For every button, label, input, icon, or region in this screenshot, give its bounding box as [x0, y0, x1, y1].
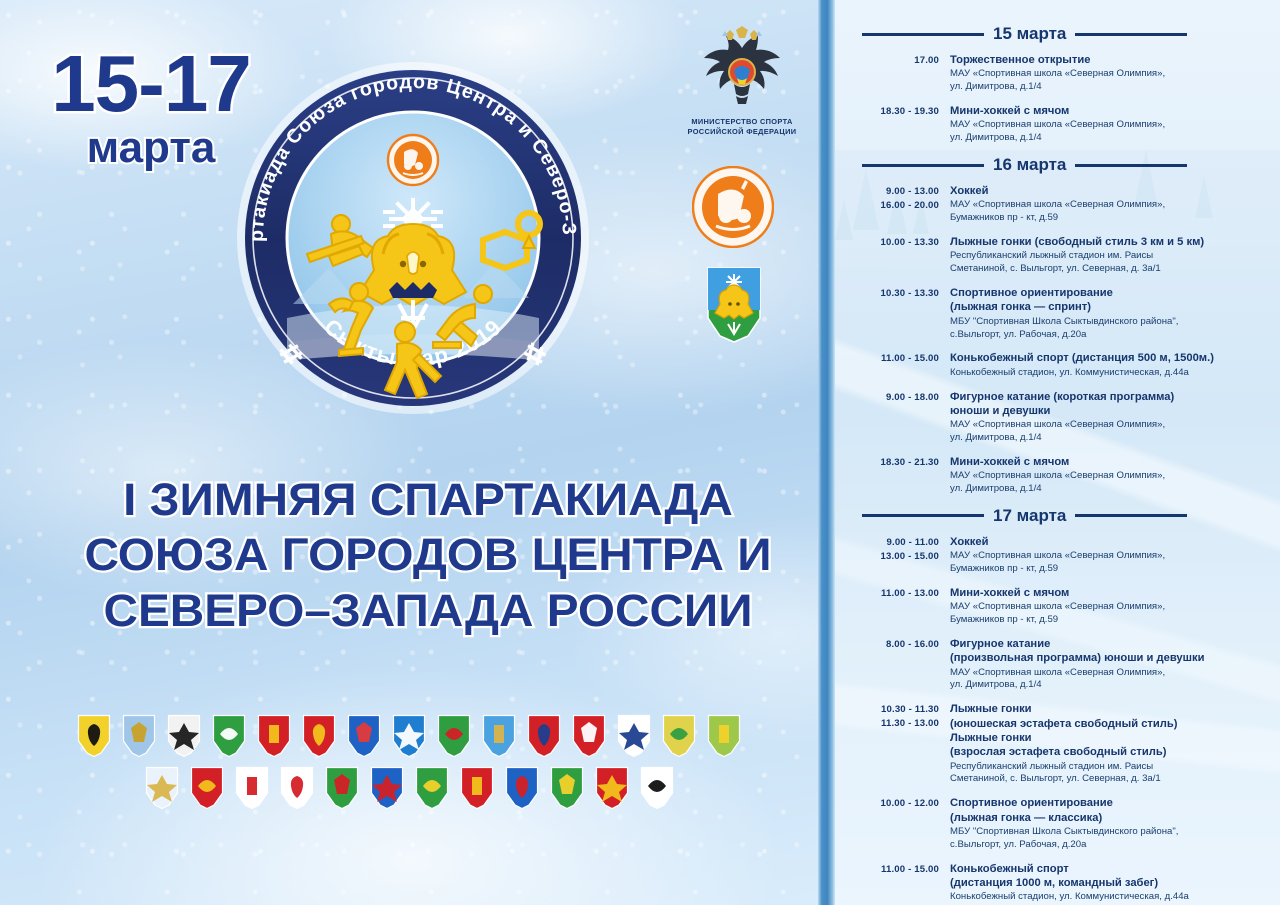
schedule-event: 9.00 - 18.00Фигурное катание (короткая п… [862, 390, 1274, 445]
arms-ukhta [415, 766, 449, 810]
arms-naryan-mar [572, 714, 606, 758]
event-time: 10.30 - 13.30 [862, 287, 939, 301]
event-venue-line: ул. Димитрова, д.1/4 [950, 679, 1274, 692]
event-body: Конькобежный спорт(дистанция 1000 м, ком… [950, 862, 1274, 905]
day-header: 17 марта [862, 506, 1274, 526]
schedule-event: 11.00 - 15.00Конькобежный спорт(дистанци… [862, 862, 1274, 905]
event-time: 9.00 - 18.00 [862, 391, 939, 405]
event-title: Хоккей [950, 184, 1274, 198]
schedule-event: 9.00 - 11.0013.00 - 15.00ХоккейМАУ «Спор… [862, 535, 1274, 576]
arms-rybinsk [527, 714, 561, 758]
schedule-event: 9.00 - 13.0016.00 - 20.00ХоккейМАУ «Спор… [862, 184, 1274, 225]
event-times: 10.30 - 11.3011.30 - 13.00 [862, 702, 950, 786]
ministry-line-1: МИНИСТЕРСТВО СПОРТА [672, 117, 812, 127]
event-venue: Республиканский лыжный стадион им. Раисы… [950, 250, 1274, 276]
event-venue: Республиканский лыжный стадион им. Раисы… [950, 761, 1274, 787]
event-time: 11.00 - 15.00 [862, 352, 939, 366]
event-title: Мини-хоккей с мячом [950, 455, 1274, 469]
ministry-of-sport-logo: МИНИСТЕРСТВО СПОРТА РОССИЙСКОЙ ФЕДЕРАЦИИ [672, 26, 812, 137]
event-venue-line: ул. Димитрова, д.1/4 [950, 132, 1274, 145]
event-venue-line: МАУ «Спортивная школа «Северная Олимпия»… [950, 119, 1274, 132]
schedule-event: 18.30 - 21.30Мини-хоккей с мячомМАУ «Спо… [862, 455, 1274, 496]
event-venue-line: Бумажников пр - кт, д.59 [950, 614, 1274, 627]
event-times: 10.00 - 13.30 [862, 235, 950, 276]
arms-cherepovets-2 [235, 766, 269, 810]
event-title: Конькобежный спорт (дистанция 500 м, 150… [950, 351, 1274, 365]
event-times: 9.00 - 13.0016.00 - 20.00 [862, 184, 950, 225]
event-time: 10.00 - 13.30 [862, 236, 939, 250]
arms-vorkuta [460, 766, 494, 810]
event-time: 10.30 - 11.30 [862, 703, 939, 717]
event-body: Мини-хоккей с мячомМАУ «Спортивная школа… [950, 586, 1274, 627]
date-month: марта [36, 126, 266, 170]
event-title: Лыжные гонки(юношеская эстафета свободны… [950, 702, 1274, 759]
arms-kotlas [617, 714, 651, 758]
event-venue: МБУ "Спортивная Школа Сыктывдинского рай… [950, 316, 1274, 342]
event-venue: МАУ «Спортивная школа «Северная Олимпия»… [950, 601, 1274, 627]
event-body: Спортивное ориентирование(лыжная гонка —… [950, 286, 1274, 341]
tree-icon [835, 200, 853, 240]
event-body: Лыжные гонки(юношеская эстафета свободны… [950, 702, 1274, 786]
rule-left [862, 33, 984, 36]
rule-left [862, 514, 984, 517]
rule-left [862, 164, 984, 167]
event-time: 11.00 - 13.00 [862, 587, 939, 601]
event-body: Спортивное ориентирование(лыжная гонка —… [950, 796, 1274, 851]
double-headed-eagle-icon [682, 26, 802, 110]
schedule-event: 11.00 - 13.00Мини-хоккей с мячомМАУ «Спо… [862, 586, 1274, 627]
title-line-2: СОЮЗА ГОРОДОВ ЦЕНТРА И [25, 527, 831, 582]
event-venue-line: МАУ «Спортивная школа «Северная Олимпия»… [950, 419, 1274, 432]
day-label: 15 марта [993, 24, 1066, 44]
day-header: 15 марта [862, 24, 1274, 44]
day-label: 16 марта [993, 155, 1066, 175]
title-line-1: I ЗИМНЯЯ СПАРТАКИАДА [25, 472, 831, 527]
schedule-event: 10.00 - 12.00Спортивное ориентирование(л… [862, 796, 1274, 851]
event-times: 11.00 - 15.00 [862, 862, 950, 905]
event-time: 16.00 - 20.00 [862, 199, 939, 213]
arms-syktyvkar-region [662, 714, 696, 758]
event-body: Лыжные гонки (свободный стиль 3 км и 5 к… [950, 235, 1274, 276]
event-venue-line: с.Выльгорт, ул. Рабочая, д.20а [950, 839, 1274, 852]
event-schedule: 15 марта17.00Торжественное открытиеМАУ «… [862, 18, 1274, 905]
event-venue-line: Конькобежный стадион, ул. Коммунистическ… [950, 891, 1274, 904]
arms-vologda-region [302, 714, 336, 758]
schedule-event: 11.00 - 15.00Конькобежный спорт (дистанц… [862, 351, 1274, 379]
event-venue-line: Сметаниной, с. Выльгорт, ул. Северная, д… [950, 773, 1274, 786]
arms-extra [707, 714, 741, 758]
arms-murmansk [482, 714, 516, 758]
event-venue-line: МАУ «Спортивная школа «Северная Олимпия»… [950, 667, 1274, 680]
vertical-divider-stripe [818, 0, 835, 905]
event-venue-line: МБУ "Спортивная Школа Сыктывдинского рай… [950, 316, 1274, 329]
event-title: Фигурное катание (короткая программа)юно… [950, 390, 1274, 419]
event-time: 18.30 - 21.30 [862, 456, 939, 470]
rule-right [1075, 33, 1187, 36]
event-venue-line: ул. Димитрова, д.1/4 [950, 81, 1274, 94]
event-venue-line: Сметаниной, с. Выльгорт, ул. Северная, д… [950, 263, 1274, 276]
event-venue-line: МАУ «Спортивная школа «Северная Олимпия»… [950, 470, 1274, 483]
arms-row-1 [0, 714, 818, 758]
arms-kaluga [595, 766, 629, 810]
event-title: Фигурное катание(произвольная программа)… [950, 637, 1274, 666]
event-venue: МБУ "Спортивная Школа Сыктывдинского рай… [950, 826, 1274, 852]
arms-severodvinsk [437, 714, 471, 758]
event-venue: Конькобежный стадион, ул. Коммунистическ… [950, 367, 1274, 380]
arms-veliky-novgorod [167, 714, 201, 758]
event-body: ХоккейМАУ «Спортивная школа «Северная Ол… [950, 184, 1274, 225]
event-times: 9.00 - 11.0013.00 - 15.00 [862, 535, 950, 576]
schedule-event: 10.00 - 13.30Лыжные гонки (свободный сти… [862, 235, 1274, 276]
arms-velikiy-ustyug [325, 766, 359, 810]
page-title: I ЗИМНЯЯ СПАРТАКИАДА СОЮЗА ГОРОДОВ ЦЕНТР… [48, 472, 808, 638]
union-of-cities-logo [692, 166, 774, 248]
event-venue-line: МАУ «Спортивная школа «Северная Олимпия»… [950, 550, 1274, 563]
event-times: 11.00 - 15.00 [862, 351, 950, 379]
title-line-3: СЕВЕРО–ЗАПАДА РОССИИ [25, 583, 831, 638]
arms-novgorod-region [550, 766, 584, 810]
event-venue: МАУ «Спортивная школа «Северная Олимпия»… [950, 470, 1274, 496]
event-venue-line: ул. Димитрова, д.1/4 [950, 483, 1274, 496]
event-times: 10.30 - 13.30 [862, 286, 950, 341]
event-venue-line: МБУ "Спортивная Школа Сыктывдинского рай… [950, 826, 1274, 839]
date-range: 15-17 [36, 46, 266, 122]
schedule-event: 8.00 - 16.00Фигурное катание(произвольна… [862, 637, 1274, 692]
syktyvkar-coat-of-arms [706, 266, 762, 344]
emblem-svg: I Зимняя Спартакиада Союза городов Центр… [233, 42, 593, 427]
event-time: 17.00 [862, 54, 939, 68]
event-body: Торжественное открытиеМАУ «Спортивная шк… [950, 53, 1274, 94]
event-body: Конькобежный спорт (дистанция 500 м, 150… [950, 351, 1274, 379]
arms-pskov [145, 766, 179, 810]
event-title: Спортивное ориентирование(лыжная гонка —… [950, 796, 1274, 825]
day-label: 17 марта [993, 506, 1066, 526]
event-title: Лыжные гонки (свободный стиль 3 км и 5 к… [950, 235, 1274, 249]
schedule-event: 10.30 - 13.30Спортивное ориентирование(л… [862, 286, 1274, 341]
event-body: Мини-хоккей с мячомМАУ «Спортивная школа… [950, 104, 1274, 145]
arms-orel [370, 766, 404, 810]
spartakiad-emblem: I Зимняя Спартакиада Союза городов Центр… [233, 42, 593, 427]
emblem-inner-union-logo [388, 135, 438, 185]
event-venue-line: ул. Димитрова, д.1/4 [950, 432, 1274, 445]
arms-kostroma [392, 714, 426, 758]
event-time: 9.00 - 13.00 [862, 185, 939, 199]
event-venue: Конькобежный стадион, ул. Коммунистическ… [950, 891, 1274, 904]
event-body: Мини-хоккей с мячомМАУ «Спортивная школа… [950, 455, 1274, 496]
event-title: Спортивное ориентирование(лыжная гонка —… [950, 286, 1274, 315]
event-venue-line: МАУ «Спортивная школа «Северная Олимпия»… [950, 199, 1274, 212]
event-body: Фигурное катание(произвольная программа)… [950, 637, 1274, 692]
event-times: 8.00 - 16.00 [862, 637, 950, 692]
event-venue: МАУ «Спортивная школа «Северная Олимпия»… [950, 419, 1274, 445]
arms-row-2 [0, 766, 818, 810]
rule-right [1075, 514, 1187, 517]
event-venue-line: МАУ «Спортивная школа «Северная Олимпия»… [950, 68, 1274, 81]
event-times: 10.00 - 12.00 [862, 796, 950, 851]
event-venue: МАУ «Спортивная школа «Северная Олимпия»… [950, 550, 1274, 576]
arms-nizhny [505, 766, 539, 810]
rule-right [1075, 164, 1187, 167]
event-time: 13.00 - 15.00 [862, 550, 939, 564]
event-times: 18.30 - 21.30 [862, 455, 950, 496]
event-venue-line: с.Выльгорт, ул. Рабочая, д.20а [950, 329, 1274, 342]
event-body: ХоккейМАУ «Спортивная школа «Северная Ол… [950, 535, 1274, 576]
event-time: 11.00 - 15.00 [862, 863, 939, 877]
event-title: Хоккей [950, 535, 1274, 549]
date-badge: 15-17 марта [36, 46, 266, 170]
event-time: 8.00 - 16.00 [862, 638, 939, 652]
event-venue-line: Бумажников пр - кт, д.59 [950, 212, 1274, 225]
event-times: 9.00 - 18.00 [862, 390, 950, 445]
arms-arkhangelsk [347, 714, 381, 758]
arms-yaroslavl [640, 766, 674, 810]
event-venue-line: Бумажников пр - кт, д.59 [950, 563, 1274, 576]
schedule-event: 18.30 - 19.30Мини-хоккей с мячомМАУ «Спо… [862, 104, 1274, 145]
event-title: Конькобежный спорт(дистанция 1000 м, ком… [950, 862, 1274, 891]
arms-vologda [122, 714, 156, 758]
event-venue-line: МАУ «Спортивная школа «Северная Олимпия»… [950, 601, 1274, 614]
event-times: 18.30 - 19.30 [862, 104, 950, 145]
event-title: Мини-хоккей с мячом [950, 104, 1274, 118]
event-time: 10.00 - 12.00 [862, 797, 939, 811]
schedule-event: 10.30 - 11.3011.30 - 13.00Лыжные гонки(ю… [862, 702, 1274, 786]
arms-kirov [77, 714, 111, 758]
ministry-line-2: РОССИЙСКОЙ ФЕДЕРАЦИИ [672, 127, 812, 137]
event-title: Торжественное открытие [950, 53, 1274, 67]
schedule-event: 17.00Торжественное открытиеМАУ «Спортивн… [862, 53, 1274, 94]
event-time: 11.30 - 13.00 [862, 717, 939, 731]
event-venue-line: Республиканский лыжный стадион им. Раисы [950, 250, 1274, 263]
event-times: 17.00 [862, 53, 950, 94]
event-venue: МАУ «Спортивная школа «Северная Олимпия»… [950, 68, 1274, 94]
event-venue: МАУ «Спортивная школа «Северная Олимпия»… [950, 667, 1274, 693]
event-venue: МАУ «Спортивная школа «Северная Олимпия»… [950, 119, 1274, 145]
participating-cities-arms [0, 714, 818, 818]
arms-cherepovets [212, 714, 246, 758]
event-times: 11.00 - 13.00 [862, 586, 950, 627]
event-time: 9.00 - 11.00 [862, 536, 939, 550]
event-body: Фигурное катание (короткая программа)юно… [950, 390, 1274, 445]
event-venue-line: Республиканский лыжный стадион им. Раисы [950, 761, 1274, 774]
event-venue-line: Конькобежный стадион, ул. Коммунистическ… [950, 367, 1274, 380]
day-header: 16 марта [862, 155, 1274, 175]
event-time: 18.30 - 19.30 [862, 105, 939, 119]
arms-tver [190, 766, 224, 810]
event-venue: МАУ «Спортивная школа «Северная Олимпия»… [950, 199, 1274, 225]
arms-vladimir [257, 714, 291, 758]
poster: 15-17 марта [0, 0, 1280, 905]
event-title: Мини-хоккей с мячом [950, 586, 1274, 600]
arms-yaroslavl-region [280, 766, 314, 810]
